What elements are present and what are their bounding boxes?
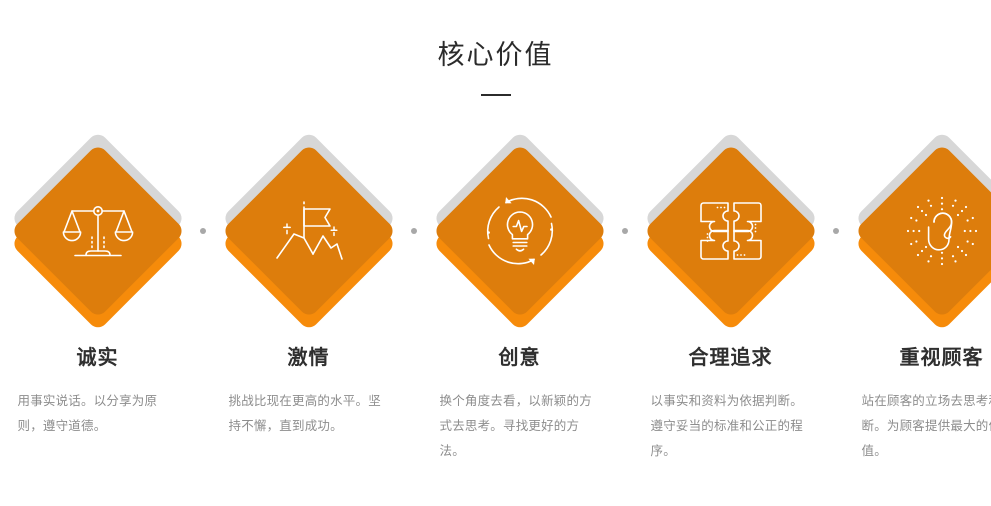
card-description: 以事实和资料为依据判断。遵守妥当的标准和公正的程序。 — [651, 388, 811, 463]
card-heading: 合理追求 — [689, 344, 773, 370]
card-heading: 激情 — [288, 344, 330, 370]
value-card-creativity[interactable]: 创意 换个角度去看，以新颖的方式去思考。寻找更好的方法。 — [422, 140, 617, 463]
card-separator — [617, 140, 633, 322]
lightbulb-refresh-icon — [429, 140, 611, 322]
card-separator — [406, 140, 422, 322]
mountain-flag-icon — [218, 140, 400, 322]
diamond-badge — [7, 140, 189, 322]
title-divider — [481, 94, 511, 96]
diamond-badge — [851, 140, 991, 322]
value-card-passion[interactable]: 激情 挑战比现在更高的水平。坚持不懈，直到成功。 — [211, 140, 406, 438]
card-description: 换个角度去看，以新颖的方式去思考。寻找更好的方法。 — [440, 388, 600, 463]
card-heading: 重视顾客 — [900, 344, 984, 370]
page-header: 核心价值 — [0, 40, 991, 96]
card-separator — [195, 140, 211, 322]
puzzle-pieces-icon — [640, 140, 822, 322]
page-title: 核心价值 — [0, 40, 991, 72]
card-description: 站在顾客的立场去思考和判断。为顾客提供最大的价值。 — [862, 388, 991, 463]
dot-icon — [833, 228, 839, 234]
value-card-rational-pursuit[interactable]: 合理追求 以事实和资料为依据判断。遵守妥当的标准和公正的程序。 — [633, 140, 828, 463]
listening-ear-icon — [851, 140, 991, 322]
dot-icon — [411, 228, 417, 234]
card-heading: 诚实 — [77, 344, 119, 370]
card-heading: 创意 — [499, 344, 541, 370]
diamond-badge — [429, 140, 611, 322]
value-card-customer-focus[interactable]: 重视顾客 站在顾客的立场去思考和判断。为顾客提供最大的价值。 — [844, 140, 991, 463]
card-description: 用事实说话。以分享为原则，遵守道德。 — [18, 388, 178, 438]
diamond-badge — [640, 140, 822, 322]
value-card-honesty[interactable]: 诚实 用事实说话。以分享为原则，遵守道德。 — [0, 140, 195, 438]
balance-scale-icon — [7, 140, 189, 322]
card-separator — [828, 140, 844, 322]
dot-icon — [622, 228, 628, 234]
dot-icon — [200, 228, 206, 234]
diamond-badge — [218, 140, 400, 322]
card-description: 挑战比现在更高的水平。坚持不懈，直到成功。 — [229, 388, 389, 438]
core-values-card-row: 诚实 用事实说话。以分享为原则，遵守道德。 激情 挑 — [0, 140, 991, 463]
